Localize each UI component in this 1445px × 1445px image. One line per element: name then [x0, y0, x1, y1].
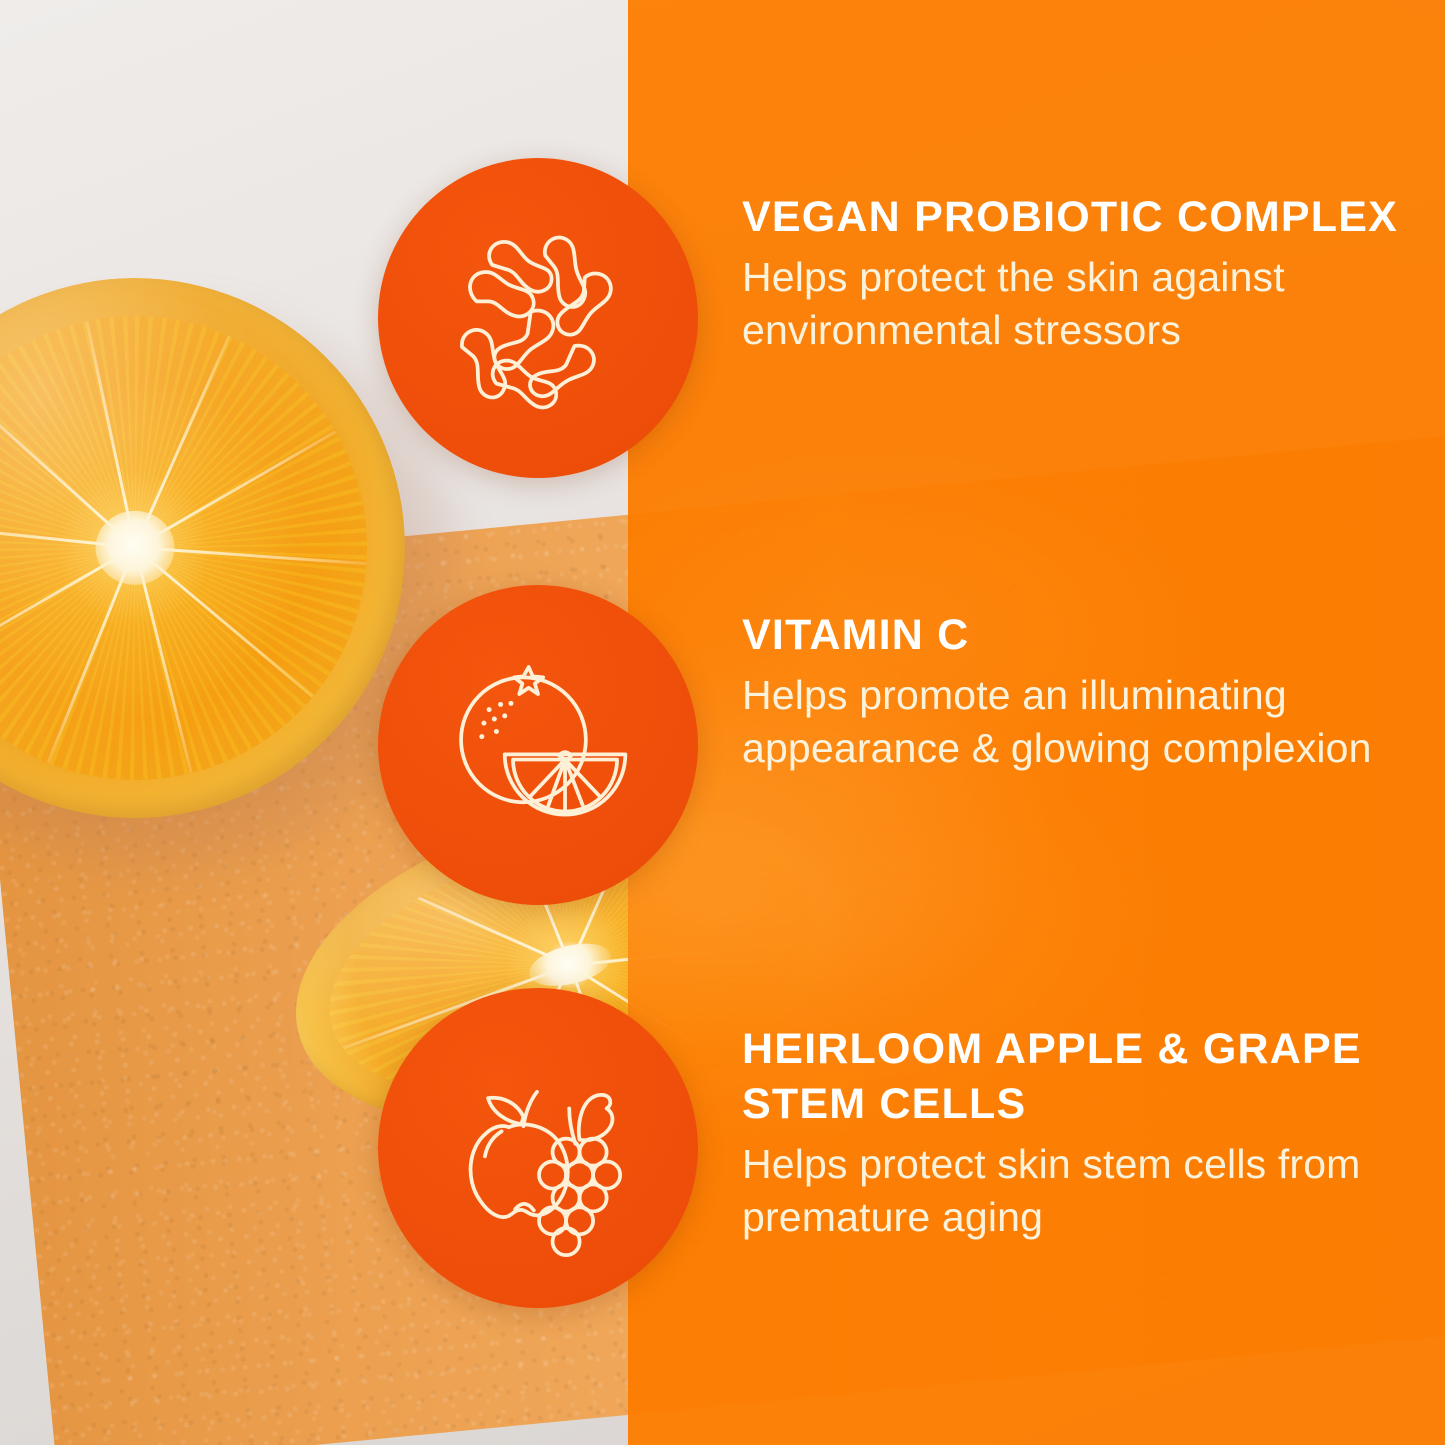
feature-copy-vitamin-c: VITAMIN C Helps promote an illuminating … — [742, 608, 1442, 776]
badge-probiotic — [378, 158, 698, 478]
probiotic-bacteria-icon — [434, 214, 642, 422]
feature-description: Helps protect the skin against environme… — [742, 251, 1442, 358]
ingredient-benefits-infographic: VEGAN PROBIOTIC COMPLEX Helps protect th… — [0, 0, 1445, 1445]
feature-copy-probiotic: VEGAN PROBIOTIC COMPLEX Helps protect th… — [742, 190, 1442, 358]
feature-title: VITAMIN C — [742, 608, 1442, 663]
feature-title: VEGAN PROBIOTIC COMPLEX — [742, 190, 1442, 245]
feature-description: Helps promote an illuminating appearance… — [742, 669, 1442, 776]
badge-stem-cells — [378, 988, 698, 1308]
feature-description: Helps protect skin stem cells from prema… — [742, 1138, 1442, 1245]
orange-fruit-slice-icon — [434, 641, 642, 849]
feature-title: HEIRLOOM APPLE & GRAPE STEM CELLS — [742, 1022, 1442, 1132]
feature-copy-stem-cells: HEIRLOOM APPLE & GRAPE STEM CELLS Helps … — [742, 1022, 1442, 1245]
apple-and-grapes-icon — [434, 1044, 642, 1252]
badge-vitamin-c — [378, 585, 698, 905]
